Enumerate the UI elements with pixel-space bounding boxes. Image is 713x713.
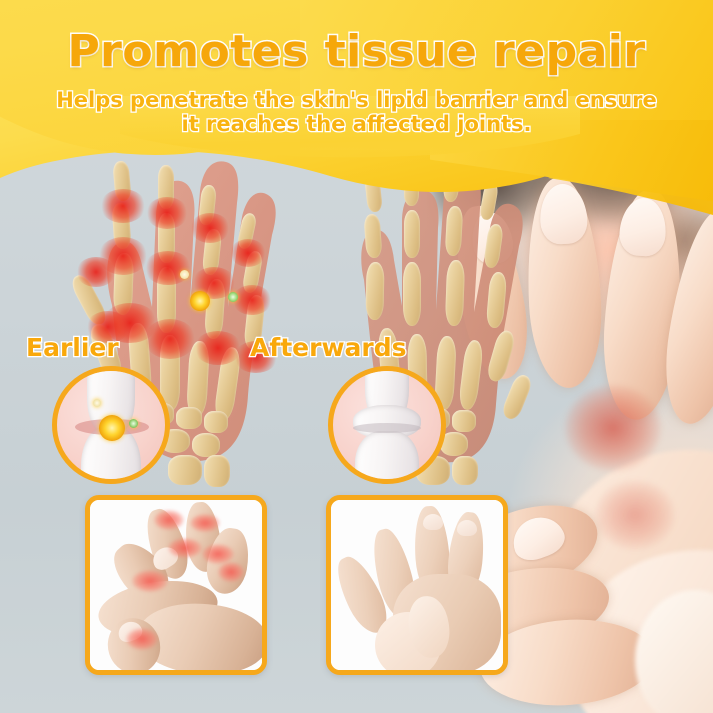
inflammation-spark-icon bbox=[99, 415, 125, 441]
inflammation-spark-icon bbox=[93, 399, 101, 407]
inflamed-joint-marker bbox=[232, 285, 272, 315]
inflamed-joint-marker bbox=[190, 514, 220, 532]
inflamed-joint-marker bbox=[146, 197, 188, 229]
inflamed-joint-marker bbox=[126, 628, 158, 650]
healthy-joint-closeup bbox=[328, 366, 446, 484]
inflamed-joint-marker bbox=[230, 239, 266, 267]
inflammation-spark-icon bbox=[129, 419, 138, 428]
inflammation-spark-icon bbox=[228, 292, 238, 302]
inflamed-joint-marker bbox=[202, 544, 234, 564]
inflamed-joint-marker bbox=[144, 319, 196, 359]
label-afterwards: Afterwards bbox=[250, 333, 407, 362]
arthritic-hands-photo bbox=[85, 495, 267, 675]
inflamed-joint-marker bbox=[132, 570, 168, 592]
inflamed-joint-closeup bbox=[52, 366, 170, 484]
inflamed-joint-marker bbox=[100, 189, 146, 223]
inflamed-joint-marker bbox=[144, 251, 192, 285]
inflammation-spark-icon bbox=[190, 291, 210, 311]
healthy-hand-photo bbox=[326, 495, 508, 675]
inflamed-joint-marker bbox=[190, 213, 230, 243]
inflamed-joint-marker bbox=[218, 562, 244, 582]
inflamed-joint-marker bbox=[168, 538, 202, 558]
inflamed-joint-marker bbox=[76, 257, 116, 287]
label-earlier: Earlier bbox=[26, 333, 119, 362]
inflamed-joint-marker bbox=[154, 510, 184, 530]
inflammation-spark-icon bbox=[180, 270, 189, 279]
page-title: Promotes tissue repair bbox=[0, 26, 713, 77]
promotional-banner: Promotes tissue repair Helps penetrate t… bbox=[0, 0, 713, 713]
page-subtitle: Helps penetrate the skin's lipid barrier… bbox=[52, 88, 661, 136]
